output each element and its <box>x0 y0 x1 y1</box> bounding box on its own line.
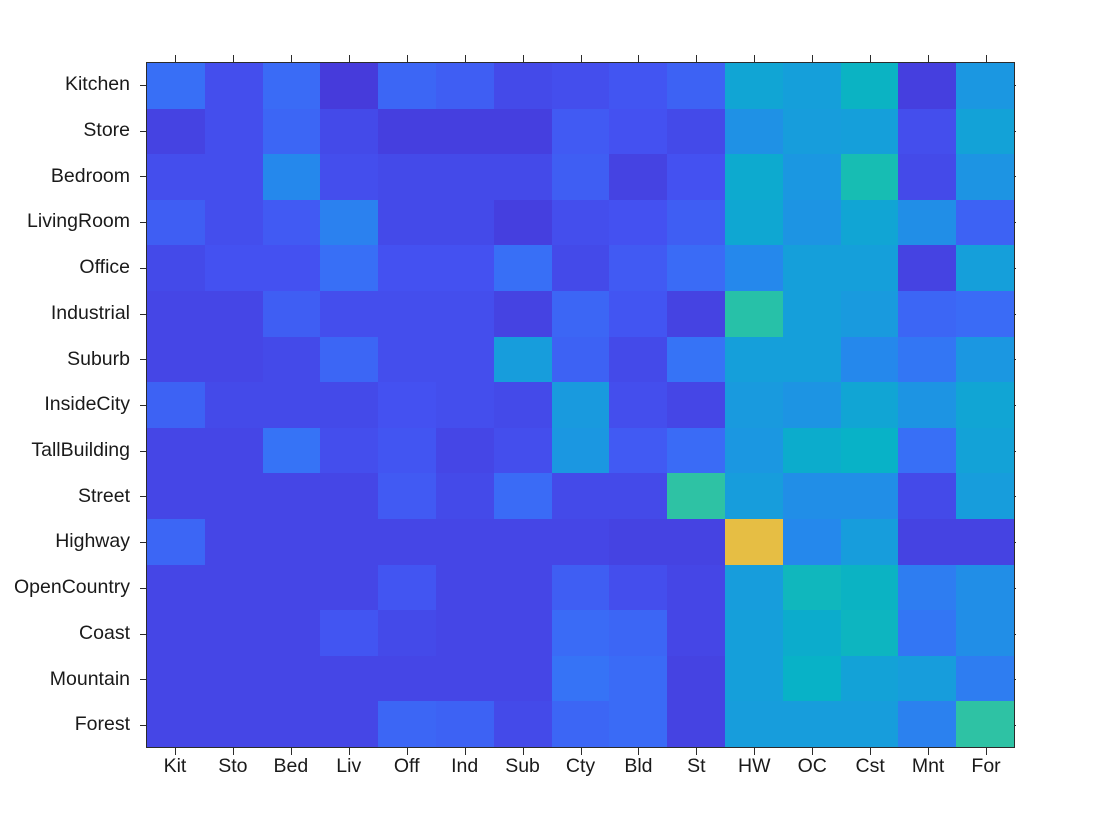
heatmap-cell <box>898 291 956 337</box>
heatmap-cell <box>320 337 378 383</box>
x-axis-tick-mark <box>291 748 292 755</box>
heatmap-cell <box>320 109 378 155</box>
heatmap-cell <box>147 565 205 611</box>
y-axis-tick-label: Highway <box>0 519 134 565</box>
heatmap-cell <box>841 701 899 747</box>
heatmap-cell <box>841 245 899 291</box>
heatmap-cell <box>147 63 205 109</box>
heatmap-cell <box>263 656 321 702</box>
x-axis-tick-mark <box>581 748 582 755</box>
heatmap-cell <box>436 337 494 383</box>
heatmap-cell <box>783 337 841 383</box>
heatmap-cell <box>841 473 899 519</box>
heatmap-cell <box>667 109 725 155</box>
x-axis-tick-mark <box>870 748 871 755</box>
heatmap-cell <box>609 154 667 200</box>
heatmap-cell <box>956 656 1014 702</box>
heatmap-cell <box>667 701 725 747</box>
heatmap-cell <box>494 337 552 383</box>
heatmap-cell <box>609 291 667 337</box>
heatmap-cell <box>783 565 841 611</box>
heatmap-cell <box>552 63 610 109</box>
x-axis-tick-mark-top <box>581 55 582 62</box>
heatmap-cell <box>205 565 263 611</box>
heatmap-cell <box>147 610 205 656</box>
heatmap-cell <box>956 109 1014 155</box>
y-axis-tick-label: OpenCountry <box>0 565 134 611</box>
heatmap-cell <box>436 519 494 565</box>
heatmap-cell <box>494 291 552 337</box>
x-axis-tick-mark-top <box>465 55 466 62</box>
heatmap-cell <box>320 382 378 428</box>
x-axis-tick-mark <box>986 748 987 755</box>
heatmap-cell <box>436 473 494 519</box>
heatmap-cell <box>378 565 436 611</box>
heatmap-cell <box>783 473 841 519</box>
heatmap-cell <box>436 245 494 291</box>
heatmap-cell <box>147 200 205 246</box>
y-axis-tick-label: Bedroom <box>0 153 134 199</box>
heatmap-cell <box>609 565 667 611</box>
heatmap-cell <box>263 291 321 337</box>
heatmap-cell <box>320 245 378 291</box>
heatmap-cell <box>552 109 610 155</box>
x-axis-label-group: KitStoBedLivOffIndSubCtyBldStHWOCCstMntF… <box>146 755 1015 789</box>
heatmap-cell <box>609 656 667 702</box>
y-axis-tick-label: InsideCity <box>0 382 134 428</box>
heatmap-cell <box>147 291 205 337</box>
heatmap-cell <box>783 109 841 155</box>
x-axis-tick-mark <box>812 748 813 755</box>
heatmap-cell <box>841 656 899 702</box>
heatmap-cell <box>147 154 205 200</box>
y-axis-tick-label: TallBuilding <box>0 428 134 474</box>
x-axis-tick-label: Bld <box>609 755 667 789</box>
heatmap-cell <box>898 63 956 109</box>
heatmap-cell <box>494 154 552 200</box>
y-axis-tick-label: Street <box>0 474 134 520</box>
heatmap-cell <box>783 200 841 246</box>
x-axis-tick-mark <box>696 748 697 755</box>
heatmap-cell <box>552 701 610 747</box>
heatmap-cell <box>436 291 494 337</box>
y-axis-tick-label: Store <box>0 108 134 154</box>
heatmap-cell <box>263 245 321 291</box>
heatmap-cell <box>436 701 494 747</box>
heatmap-cell <box>667 382 725 428</box>
heatmap-cell <box>898 337 956 383</box>
y-axis-tick-label: LivingRoom <box>0 199 134 245</box>
heatmap-cell <box>667 473 725 519</box>
heatmap-cell <box>378 109 436 155</box>
heatmap-cell <box>841 63 899 109</box>
heatmap-cell <box>609 701 667 747</box>
heatmap-cell <box>378 473 436 519</box>
x-axis-tick-mark-top <box>638 55 639 62</box>
heatmap-cell <box>263 154 321 200</box>
heatmap-cell <box>436 200 494 246</box>
heatmap-cell <box>205 473 263 519</box>
heatmap-cell <box>725 109 783 155</box>
heatmap-cell <box>494 109 552 155</box>
x-axis-tick-label: Sto <box>204 755 262 789</box>
heatmap-cell <box>147 701 205 747</box>
heatmap-cell <box>147 382 205 428</box>
heatmap-cell <box>609 473 667 519</box>
heatmap-cell <box>263 519 321 565</box>
x-axis-tick-mark-top <box>523 55 524 62</box>
x-axis-tick-mark-top <box>175 55 176 62</box>
heatmap-cell <box>263 337 321 383</box>
heatmap-cell <box>609 382 667 428</box>
heatmap-cell <box>898 610 956 656</box>
heatmap-cell <box>205 428 263 474</box>
heatmap-cell <box>841 337 899 383</box>
heatmap-cell <box>667 519 725 565</box>
heatmap-cell <box>725 519 783 565</box>
heatmap-cell <box>263 565 321 611</box>
heatmap-cell <box>494 610 552 656</box>
heatmap-cell <box>956 291 1014 337</box>
heatmap-cell <box>725 656 783 702</box>
heatmap-cell <box>667 245 725 291</box>
heatmap-cell <box>667 200 725 246</box>
x-axis-tick-mark-top <box>407 55 408 62</box>
heatmap-cell <box>147 656 205 702</box>
heatmap-cell <box>725 200 783 246</box>
heatmap-cell <box>378 428 436 474</box>
heatmap-cell <box>956 565 1014 611</box>
heatmap-cell <box>667 154 725 200</box>
x-axis-tick-mark-top <box>754 55 755 62</box>
heatmap-cell <box>725 154 783 200</box>
heatmap-cell <box>320 610 378 656</box>
x-axis-tick-mark-top <box>870 55 871 62</box>
x-axis-tick-label: Cty <box>552 755 610 789</box>
heatmap-cell <box>378 245 436 291</box>
heatmap-cell <box>320 154 378 200</box>
heatmap-cell <box>205 291 263 337</box>
heatmap-cell <box>783 291 841 337</box>
heatmap-cell <box>609 428 667 474</box>
heatmap-cell <box>494 519 552 565</box>
heatmap-cell <box>552 519 610 565</box>
heatmap-cell <box>205 245 263 291</box>
heatmap-cell <box>378 63 436 109</box>
x-axis-tick-label: Sub <box>494 755 552 789</box>
heatmap-cell <box>147 473 205 519</box>
x-axis-tick-label: Ind <box>436 755 494 789</box>
heatmap-cell <box>956 200 1014 246</box>
heatmap-cell <box>956 63 1014 109</box>
heatmap-cell <box>841 565 899 611</box>
x-axis-tick-label: For <box>957 755 1015 789</box>
heatmap-cell <box>956 428 1014 474</box>
x-axis-tick-label: St <box>667 755 725 789</box>
heatmap-cell <box>898 245 956 291</box>
y-axis-tick-label: Industrial <box>0 291 134 337</box>
heatmap-cell <box>494 565 552 611</box>
y-axis-tick-label: Mountain <box>0 657 134 703</box>
heatmap-cell <box>898 519 956 565</box>
heatmap-cell <box>205 337 263 383</box>
heatmap-cell <box>378 291 436 337</box>
heatmap-cell <box>494 63 552 109</box>
heatmap-cell <box>552 382 610 428</box>
heatmap-cell <box>841 610 899 656</box>
heatmap-cell <box>494 245 552 291</box>
heatmap-cell <box>609 519 667 565</box>
heatmap-cell <box>320 291 378 337</box>
heatmap-cell <box>552 154 610 200</box>
heatmap-cell <box>552 200 610 246</box>
heatmap-cell <box>552 565 610 611</box>
heatmap-cell <box>263 610 321 656</box>
heatmap-figure: KitchenStoreBedroomLivingRoomOfficeIndus… <box>0 0 1120 840</box>
x-axis-tick-label: Kit <box>146 755 204 789</box>
y-axis-tick-label: Office <box>0 245 134 291</box>
heatmap-cell <box>841 291 899 337</box>
heatmap-cell <box>956 701 1014 747</box>
heatmap-cell <box>841 109 899 155</box>
heatmap-cell <box>378 656 436 702</box>
heatmap-cell <box>494 382 552 428</box>
heatmap-cell <box>956 519 1014 565</box>
heatmap-cell <box>783 428 841 474</box>
heatmap-cell <box>205 63 263 109</box>
heatmap-cell <box>725 245 783 291</box>
heatmap-cell <box>205 656 263 702</box>
heatmap-cell <box>898 109 956 155</box>
heatmap-cell <box>667 565 725 611</box>
heatmap-cell <box>898 656 956 702</box>
heatmap-cell <box>956 337 1014 383</box>
heatmap-cell <box>956 473 1014 519</box>
x-axis-tick-mark <box>465 748 466 755</box>
heatmap-cell <box>667 610 725 656</box>
heatmap-cell <box>841 382 899 428</box>
heatmap-cell <box>609 109 667 155</box>
x-axis-tick-label: OC <box>783 755 841 789</box>
heatmap-cell <box>609 610 667 656</box>
heatmap-cell <box>436 154 494 200</box>
heatmap-cell <box>552 656 610 702</box>
heatmap-cell <box>841 200 899 246</box>
heatmap-cell <box>378 610 436 656</box>
heatmap-cell <box>725 473 783 519</box>
heatmap-cell <box>552 245 610 291</box>
heatmap-cell <box>436 382 494 428</box>
x-axis-tick-label: Liv <box>320 755 378 789</box>
heatmap-cell <box>609 337 667 383</box>
heatmap-cell <box>783 656 841 702</box>
y-axis-label-group: KitchenStoreBedroomLivingRoomOfficeIndus… <box>0 62 134 748</box>
heatmap-cell <box>494 428 552 474</box>
heatmap-cell <box>841 519 899 565</box>
heatmap-cell <box>552 428 610 474</box>
heatmap-cell <box>725 291 783 337</box>
heatmap-cell <box>263 63 321 109</box>
x-axis-tick-mark <box>754 748 755 755</box>
heatmap-cell <box>320 701 378 747</box>
heatmap-cell <box>609 200 667 246</box>
heatmap-cell <box>956 382 1014 428</box>
heatmap-cell <box>667 63 725 109</box>
heatmap-cell <box>898 154 956 200</box>
heatmap-cell <box>320 63 378 109</box>
heatmap-cell <box>898 565 956 611</box>
heatmap-cell <box>667 656 725 702</box>
heatmap-cell <box>263 473 321 519</box>
heatmap-cell <box>494 701 552 747</box>
heatmap-cell <box>552 610 610 656</box>
heatmap-plot-area <box>146 62 1015 748</box>
heatmap-cell <box>725 63 783 109</box>
heatmap-cell <box>725 610 783 656</box>
heatmap-cell <box>552 473 610 519</box>
heatmap-cell <box>378 519 436 565</box>
heatmap-cell <box>609 63 667 109</box>
heatmap-cell <box>320 200 378 246</box>
x-axis-tick-label: Cst <box>841 755 899 789</box>
heatmap-cell <box>436 565 494 611</box>
x-axis-tick-mark-top <box>986 55 987 62</box>
heatmap-cell <box>783 154 841 200</box>
heatmap-cell <box>436 656 494 702</box>
heatmap-cell <box>783 245 841 291</box>
heatmap-cell <box>725 337 783 383</box>
heatmap-cell <box>667 428 725 474</box>
x-axis-tick-label: Bed <box>262 755 320 789</box>
x-axis-tick-label: Off <box>378 755 436 789</box>
heatmap-cell <box>956 154 1014 200</box>
heatmap-cell <box>552 291 610 337</box>
heatmap-cell <box>205 154 263 200</box>
heatmap-cell <box>667 337 725 383</box>
heatmap-cell <box>783 382 841 428</box>
heatmap-cell <box>147 519 205 565</box>
heatmap-cell <box>841 154 899 200</box>
heatmap-cell <box>320 656 378 702</box>
x-axis-tick-mark <box>523 748 524 755</box>
heatmap-cell <box>841 428 899 474</box>
heatmap-cell <box>494 473 552 519</box>
heatmap-cell <box>783 63 841 109</box>
heatmap-cell <box>898 473 956 519</box>
heatmap-cell <box>436 63 494 109</box>
x-axis-tick-mark <box>349 748 350 755</box>
y-axis-tick-label: Kitchen <box>0 62 134 108</box>
heatmap-cell <box>320 473 378 519</box>
x-axis-tick-mark <box>928 748 929 755</box>
heatmap-cell <box>898 428 956 474</box>
y-axis-tick-label: Suburb <box>0 336 134 382</box>
heatmap-cell <box>783 701 841 747</box>
heatmap-cell <box>667 291 725 337</box>
heatmap-cell <box>147 337 205 383</box>
x-axis-tick-mark-top <box>349 55 350 62</box>
heatmap-cell <box>147 428 205 474</box>
heatmap-cell <box>552 337 610 383</box>
heatmap-cell <box>725 701 783 747</box>
heatmap-cell <box>263 109 321 155</box>
heatmap-cell <box>263 701 321 747</box>
heatmap-cell <box>956 245 1014 291</box>
y-axis-tick-label: Coast <box>0 611 134 657</box>
heatmap-cell <box>783 519 841 565</box>
heatmap-cell <box>898 701 956 747</box>
x-axis-tick-mark-top <box>233 55 234 62</box>
heatmap-cell <box>378 701 436 747</box>
heatmap-cell <box>378 154 436 200</box>
heatmap-cell <box>320 428 378 474</box>
x-axis-tick-mark-top <box>291 55 292 62</box>
heatmap-cell <box>725 565 783 611</box>
heatmap-cell <box>956 610 1014 656</box>
heatmap-cell <box>436 109 494 155</box>
heatmap-cell <box>378 337 436 383</box>
heatmap-cell <box>436 428 494 474</box>
heatmap-cell <box>609 245 667 291</box>
heatmap-cell <box>494 200 552 246</box>
x-axis-tick-mark <box>175 748 176 755</box>
heatmap-cell <box>320 519 378 565</box>
heatmap-cell <box>320 565 378 611</box>
heatmap-cell <box>378 382 436 428</box>
heatmap-cell <box>205 519 263 565</box>
heatmap-cell <box>205 610 263 656</box>
heatmap-cell <box>205 200 263 246</box>
heatmap-cell <box>725 428 783 474</box>
heatmap-cell <box>725 382 783 428</box>
heatmap-cell <box>436 610 494 656</box>
x-axis-tick-mark-top <box>928 55 929 62</box>
heatmap-cell <box>147 245 205 291</box>
heatmap-cell <box>205 109 263 155</box>
x-axis-tick-mark-top <box>812 55 813 62</box>
heatmap-cell <box>378 200 436 246</box>
heatmap-cell <box>898 200 956 246</box>
x-axis-tick-label: HW <box>725 755 783 789</box>
x-axis-tick-mark <box>638 748 639 755</box>
x-axis-tick-mark <box>233 748 234 755</box>
y-axis-tick-label: Forest <box>0 702 134 748</box>
heatmap-cell <box>263 382 321 428</box>
heatmap-cell <box>205 382 263 428</box>
heatmap-cell <box>494 656 552 702</box>
heatmap-cell <box>898 382 956 428</box>
heatmap-cell <box>147 109 205 155</box>
heatmap-cell <box>205 701 263 747</box>
heatmap-cell <box>783 610 841 656</box>
x-axis-tick-mark-top <box>696 55 697 62</box>
x-axis-tick-mark <box>407 748 408 755</box>
heatmap-cell-grid <box>147 63 1014 747</box>
heatmap-cell <box>263 428 321 474</box>
x-axis-tick-label: Mnt <box>899 755 957 789</box>
heatmap-cell <box>263 200 321 246</box>
